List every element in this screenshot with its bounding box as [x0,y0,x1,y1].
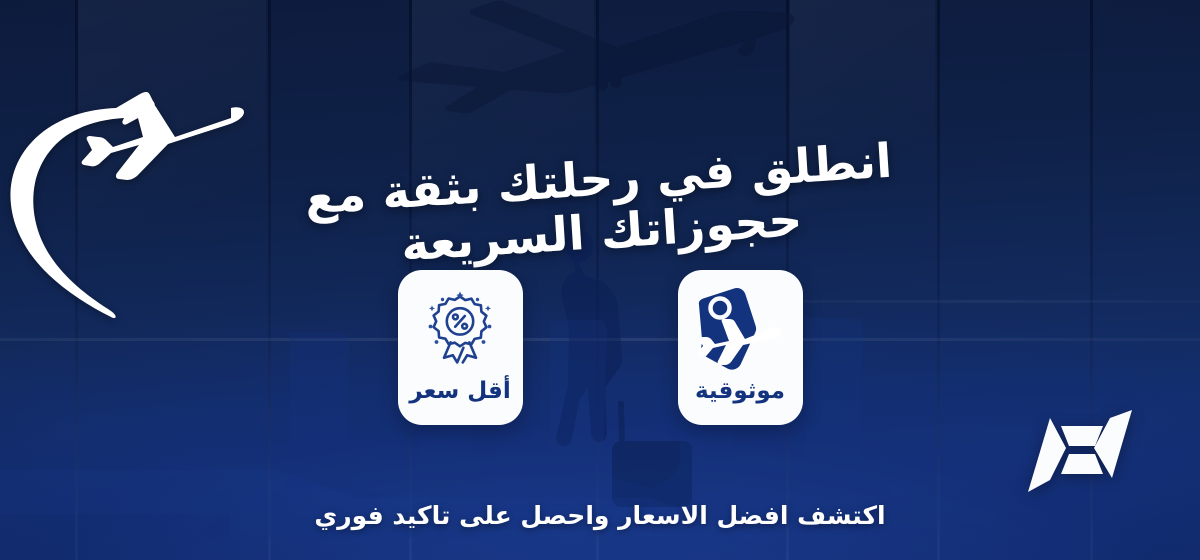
feature-card-reliability[interactable]: موثوقية [678,270,803,425]
price-tag-airplane-icon [694,286,786,370]
page-subtitle: اكتشف افضل الاسعار واحصل على تاكيد فوري [0,501,1200,530]
feature-card-lowest-price[interactable]: أقل سعر [398,270,523,425]
discount-rosette-percent-icon [414,286,506,370]
abstract-wings-logo [1020,400,1140,500]
feature-label: أقل سعر [409,380,510,403]
feature-label: موثوقية [695,380,785,403]
travel-promo-banner: انطلق في رحلتك بثقة مع حجوزاتك السريعة م… [0,0,1200,560]
